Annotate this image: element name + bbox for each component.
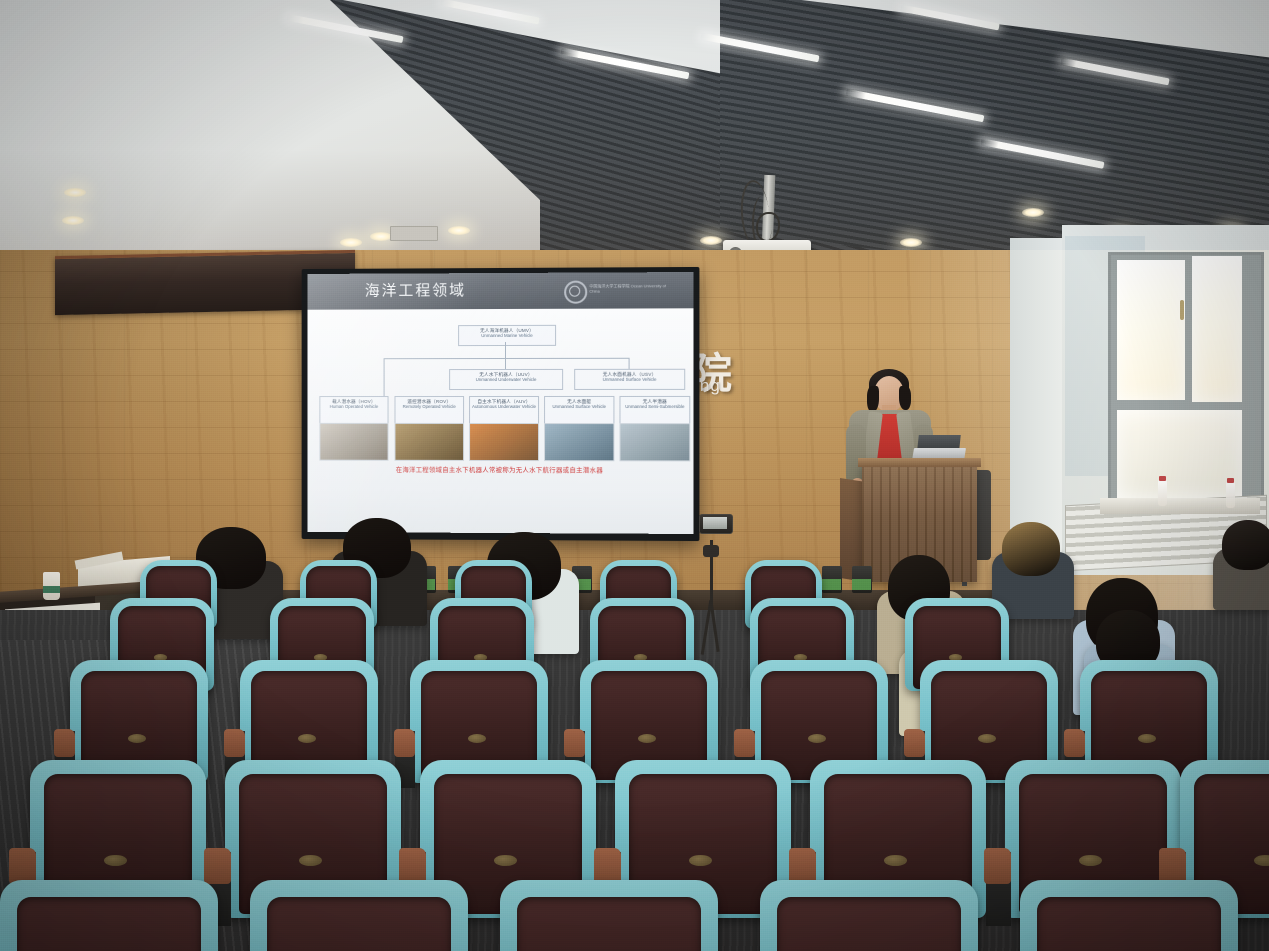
seat-row5-2[interactable] <box>250 880 468 951</box>
diagram-l3-box-4-en: Unmanned Surface Vehicle <box>545 404 613 409</box>
diagram-line-root-down <box>505 342 506 358</box>
downlight-1 <box>64 188 86 197</box>
seat-armrest <box>904 729 925 757</box>
downlight-2 <box>62 216 84 225</box>
diagram-thumb-semisub-photo <box>619 423 690 461</box>
diagram-thumb-usv-photo <box>544 423 614 461</box>
water-bottle-b <box>1226 482 1235 508</box>
downlight-5 <box>448 226 470 235</box>
seat-cushion <box>517 897 701 951</box>
seat-badge-icon <box>1138 734 1156 743</box>
seat-row5-5[interactable] <box>1020 880 1238 951</box>
seat-cushion <box>267 897 451 951</box>
seat-armrest <box>54 729 75 757</box>
diagram-l3-box-2: 遥控潜水器（ROV）Remotely Operated Vehicle <box>394 396 464 424</box>
downlight-7 <box>900 238 922 247</box>
seat-armrest <box>1064 729 1085 757</box>
counter-container-label-5 <box>822 579 841 590</box>
diagram-usv-box: 无人水面机器人（USV）Unmanned Surface Vehicle <box>574 369 685 390</box>
seat-cushion <box>17 897 201 951</box>
seat-armrest <box>984 848 1011 884</box>
seat-row5-3[interactable] <box>500 880 718 951</box>
downlight-4 <box>340 238 362 247</box>
slide-footnote: 在海洋工程领域自主水下机器人常被称为无人水下航行器或自主潜水器 <box>335 465 665 475</box>
window-pane-left <box>1117 260 1185 400</box>
seat-armrest <box>564 729 585 757</box>
seat-cushion <box>777 897 961 951</box>
diagram-l3-box-3: 自主水下机器人（AUV）Autonomous Underwater Vehicl… <box>469 396 539 424</box>
diagram-l3-box-3-en: Autonomous Underwater Vehicle <box>470 404 538 409</box>
projection-screen: 海洋工程领域 中国海洋大学工程学院 Ocean University of Ch… <box>308 272 694 534</box>
student-far-right-head <box>1222 520 1269 570</box>
diagram-l3-box-4: 无人水面艇Unmanned Surface Vehicle <box>544 396 614 424</box>
diagram-l3-box-1: 载人潜水器（HOV）Human Operated Vehicle <box>319 396 388 424</box>
window-sill <box>1100 498 1260 514</box>
tripod-head <box>703 545 719 557</box>
speaker-hair-left <box>867 386 879 412</box>
seat-badge-icon <box>978 734 996 743</box>
ceiling-vent-icon <box>390 226 438 241</box>
seat-badge-icon <box>638 734 656 743</box>
diagram-root-box: 无人海洋机器人（UMV）Unmanned Marine Vehicle <box>458 325 556 346</box>
seat-row5-4[interactable] <box>760 880 978 951</box>
seat-badge-icon <box>808 734 826 743</box>
diagram-uuv-box-en: Unmanned Underwater Vehicle <box>450 377 562 382</box>
water-bottle-cap-b <box>1227 478 1234 483</box>
seat-armrest <box>224 729 245 757</box>
diagram-l3-box-5: 无人半潜器Unmanned Semi-Submersible <box>619 396 690 424</box>
seat-row5-1[interactable] <box>0 880 218 951</box>
seat-cushion <box>1037 897 1221 951</box>
window-handle[interactable] <box>1180 300 1184 320</box>
window-pane-right <box>1192 256 1242 402</box>
downlight-8 <box>1022 208 1044 217</box>
seat-badge-icon <box>468 734 486 743</box>
slide-logo-inner-icon <box>569 286 580 297</box>
slide-title: 海洋工程领域 <box>365 279 466 300</box>
diagram-l3-box-5-en: Unmanned Semi-Submersible <box>620 404 689 409</box>
diagram-thumb-hov-photo <box>319 423 388 461</box>
counter-container-label-6 <box>852 579 871 590</box>
speaker-hair-right <box>899 386 911 410</box>
window-pane-lower <box>1117 410 1242 498</box>
diagram-thumb-auv-photo <box>469 423 539 461</box>
water-bottle-cap-a <box>1159 476 1166 481</box>
diagram-thumb-rov-photo <box>394 423 464 461</box>
podium-top-surface <box>858 458 981 467</box>
diagram-line-v-left <box>384 358 385 396</box>
water-bottle-a <box>1158 480 1167 506</box>
seat-armrest <box>734 729 755 757</box>
smartphone-screen <box>703 517 727 529</box>
lecture-hall-photo: 院 ering 海洋工程领域 中国海洋大学工程学院 Ocean Universi… <box>0 0 1269 951</box>
diagram-uuv-box: 无人水下机器人（UUV）Unmanned Underwater Vehicle <box>449 369 563 390</box>
diagram-l3-box-2-en: Remotely Operated Vehicle <box>395 404 463 409</box>
downlight-3 <box>370 232 392 241</box>
seat-badge-icon <box>298 734 316 743</box>
slide-logo-text: 中国海洋大学工程学院 Ocean University of China <box>589 283 674 293</box>
diagram-root-box-en: Unmanned Marine Vehicle <box>459 333 555 338</box>
seat-armrest <box>394 729 415 757</box>
downlight-6 <box>700 236 722 245</box>
seat-badge-icon <box>128 734 146 743</box>
student-light-hair-head <box>1002 522 1060 576</box>
diagram-usv-box-en: Unmanned Surface Vehicle <box>575 377 684 382</box>
paper-cup-band <box>43 586 60 593</box>
diagram-l3-box-1-en: Human Operated Vehicle <box>320 404 387 409</box>
